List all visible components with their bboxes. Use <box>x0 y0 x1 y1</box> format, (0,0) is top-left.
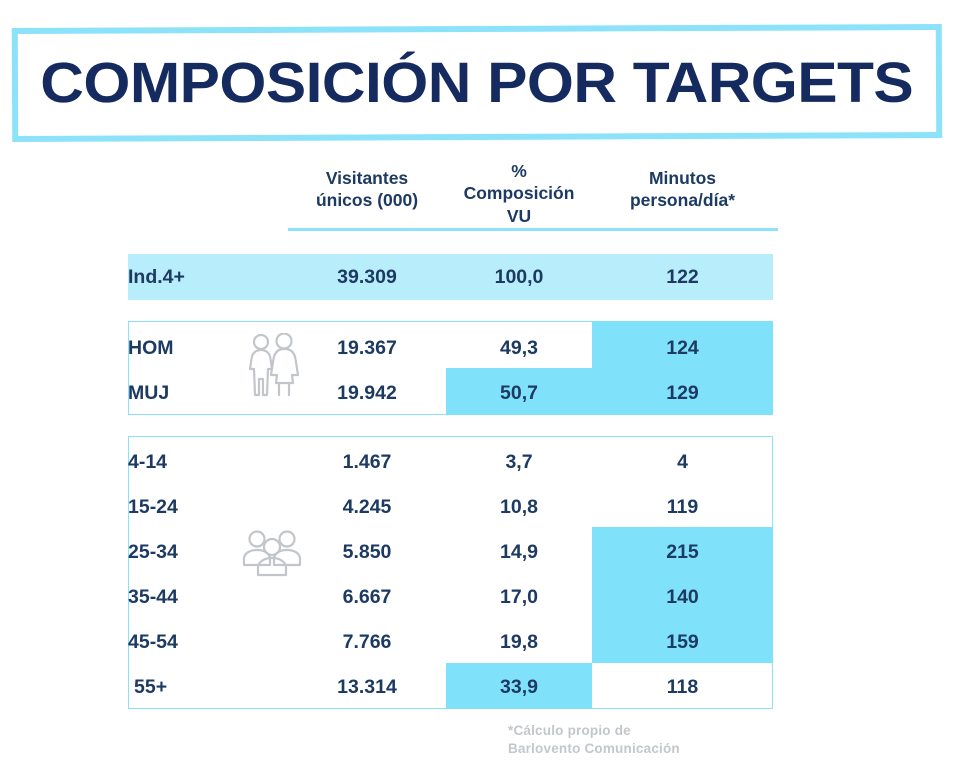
cell-muj-composicion: 50,7 <box>446 384 592 404</box>
row-label-muj: MUJ <box>128 384 248 404</box>
row-label-45-54: 45-54 <box>128 633 248 653</box>
cell-muj-visitantes: 19.942 <box>288 384 446 404</box>
cell-4-14-minutos: 4 <box>592 453 773 473</box>
row-label-55plus: 55+ <box>134 678 254 698</box>
cell-hom-visitantes: 19.367 <box>288 339 446 359</box>
cell-25-34-minutos: 215 <box>592 543 773 563</box>
footnote-line1: *Cálculo propio de <box>508 722 680 740</box>
row-label-4-14: 4-14 <box>128 453 248 473</box>
column-header-visitantes-line1: Visitantes <box>288 167 446 189</box>
column-header-minutos-line1: Minutos <box>592 167 773 189</box>
cell-35-44-minutos: 140 <box>592 588 773 608</box>
row-label-25-34: 25-34 <box>128 543 248 563</box>
column-header-minutos-line2: persona/día* <box>592 189 773 211</box>
column-header-minutos: Minutos persona/día* <box>592 167 773 212</box>
cell-55plus-visitantes: 13.314 <box>288 678 446 698</box>
targets-composition-table: Visitantes únicos (000) % Composición VU… <box>0 0 962 782</box>
footnote: *Cálculo propio de Barlovento Comunicaci… <box>508 722 680 758</box>
cell-hom-minutos: 124 <box>592 339 773 359</box>
cell-ind4plus-minutos: 122 <box>592 268 773 288</box>
cell-45-54-visitantes: 7.766 <box>288 633 446 653</box>
footnote-line2: Barlovento Comunicación <box>508 740 680 758</box>
cell-ind4plus-visitantes: 39.309 <box>288 268 446 288</box>
cell-15-24-composicion: 10,8 <box>446 498 592 518</box>
row-label-35-44: 35-44 <box>128 588 248 608</box>
cell-35-44-visitantes: 6.667 <box>288 588 446 608</box>
cell-ind4plus-composicion: 100,0 <box>446 268 592 288</box>
cell-45-54-composicion: 19,8 <box>446 633 592 653</box>
cell-4-14-composicion: 3,7 <box>446 453 592 473</box>
cell-4-14-visitantes: 1.467 <box>288 453 446 473</box>
cell-35-44-composicion: 17,0 <box>446 588 592 608</box>
cell-15-24-visitantes: 4.245 <box>288 498 446 518</box>
cell-55plus-composicion: 33,9 <box>446 678 592 698</box>
cell-55plus-minutos: 118 <box>592 678 773 698</box>
column-header-visitantes-line2: únicos (000) <box>288 189 446 211</box>
cell-muj-minutos: 129 <box>592 384 773 404</box>
cell-25-34-visitantes: 5.850 <box>288 543 446 563</box>
row-label-hom: HOM <box>128 339 248 359</box>
column-header-visitantes: Visitantes únicos (000) <box>288 167 446 212</box>
cell-45-54-minutos: 159 <box>592 633 773 653</box>
cell-25-34-composicion: 14,9 <box>446 543 592 563</box>
column-header-composicion: % Composición VU <box>446 160 592 227</box>
cell-15-24-minutos: 119 <box>592 498 773 518</box>
column-header-composicion-line3: VU <box>446 205 592 227</box>
column-header-composicion-line1: % <box>446 160 592 182</box>
row-label-15-24: 15-24 <box>128 498 248 518</box>
column-header-composicion-line2: Composición <box>446 182 592 204</box>
row-label-ind4plus: Ind.4+ <box>128 268 248 288</box>
cell-hom-composicion: 49,3 <box>446 339 592 359</box>
header-underline <box>288 228 778 231</box>
